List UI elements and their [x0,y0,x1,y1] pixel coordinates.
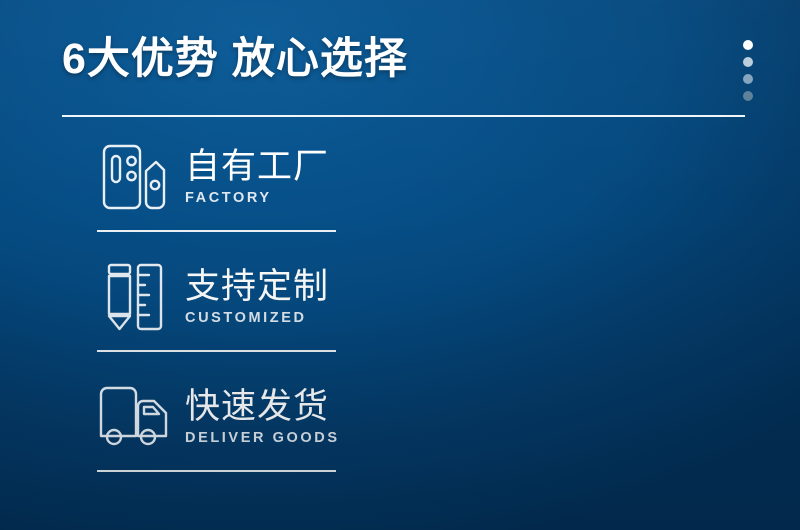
feature-grid: 自有工厂 FACTORY 规格多样 SPECI [0,128,800,488]
feature-label-cn: 自有工厂 [185,148,329,186]
feature-item-deliver-goods[interactable]: 快速发货 DELIVER GOODS [0,368,400,488]
feature-label-cn: 支持定制 [185,268,329,306]
feature-labels: 自有工厂 FACTORY [185,148,329,207]
header-divider [62,115,745,117]
feature-item-choose[interactable]: 质选好材 CHOOSE [400,248,800,368]
feature-item-factory[interactable]: 自有工厂 FACTORY [0,128,400,248]
factory-icon [97,139,171,215]
feature-label-cn: 快速发货 [185,388,340,426]
feature-label-en: CUSTOMIZED [185,310,329,326]
decorative-dots [742,40,754,101]
pencil-ruler-icon [97,259,171,335]
feature-item-customized[interactable]: 支持定制 CUSTOMIZED [0,248,400,368]
page-title: 6大优势 放心选择 [62,38,408,81]
dot-4-icon [743,91,753,101]
banner-header: 6大优势 放心选择 [0,0,800,118]
feature-item-specifications[interactable]: 规格多样 SPECIFICATIONS [400,128,800,248]
promo-banner: 6大优势 放心选择 [0,0,800,530]
feature-labels: 支持定制 CUSTOMIZED [185,268,329,327]
dot-3-icon [743,74,753,84]
feature-divider [97,470,336,472]
feature-divider [97,350,336,352]
feature-label-en: DELIVER GOODS [185,430,340,446]
delivery-truck-icon [97,379,171,455]
dot-2-icon [743,57,753,67]
feature-labels: 快速发货 DELIVER GOODS [185,388,340,447]
dot-1-icon [743,40,753,50]
feature-label-en: FACTORY [185,190,329,206]
feature-divider [97,230,336,232]
feature-item-after-sales[interactable]: 贴心售后 AFTER SALES [400,368,800,488]
